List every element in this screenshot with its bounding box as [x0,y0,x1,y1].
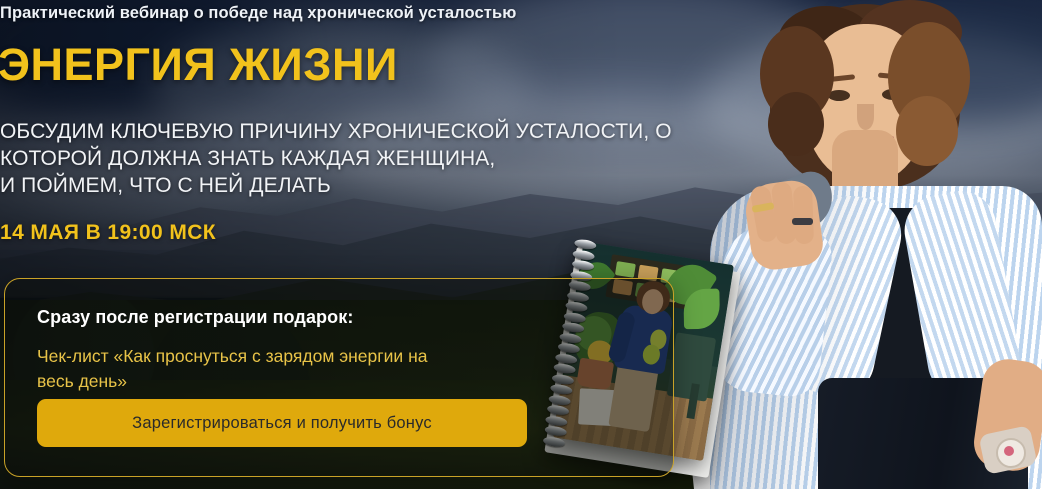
wristwatch-dial-dot [1004,446,1014,456]
subtitle-line-2: КОТОРОЙ ДОЛЖНА ЗНАТЬ КАЖДАЯ ЖЕНЩИНА, [0,145,690,172]
hair-curl [896,96,958,166]
subtitle-line-3: И ПОЙМЕМ, ЧТО С НЕЙ ДЕЛАТЬ [0,172,690,199]
hero-banner: Практический вебинар о победе над хронич… [0,0,1042,489]
subtitle-line-1: ОБСУДИМ КЛЮЧЕВУЮ ПРИЧИНУ ХРОНИЧЕСКОЙ УСТ… [0,118,690,145]
bonus-card: Сразу после регистрации подарок: Чек-лис… [4,278,674,477]
hero-eyebrow: Практический вебинар о победе над хронич… [0,4,700,23]
bonus-card-content: Сразу после регистрации подарок: Чек-лис… [5,279,673,394]
bonus-card-heading: Сразу после регистрации подарок: [37,307,673,328]
page-title: ЭНЕРГИЯ ЖИЗНИ [0,42,398,87]
dark-ring [792,218,813,225]
hair-curl [768,92,824,156]
nose-shape [857,104,874,130]
spiral-ring [572,249,595,261]
register-bonus-button[interactable]: Зарегистрироваться и получить бонус [37,399,527,447]
finger-shape [793,186,814,245]
hero-subtitle: ОБСУДИМ КЛЮЧЕВУЮ ПРИЧИНУ ХРОНИЧЕСКОЙ УСТ… [0,118,690,199]
event-datetime: 14 МАЯ В 19:00 МСК [0,221,216,245]
cover-shelf-item [615,261,635,278]
spiral-ring [571,259,594,271]
bonus-card-description: Чек-лист «Как проснуться с зарядом энерг… [37,344,467,394]
presenter-photo [682,0,1042,489]
